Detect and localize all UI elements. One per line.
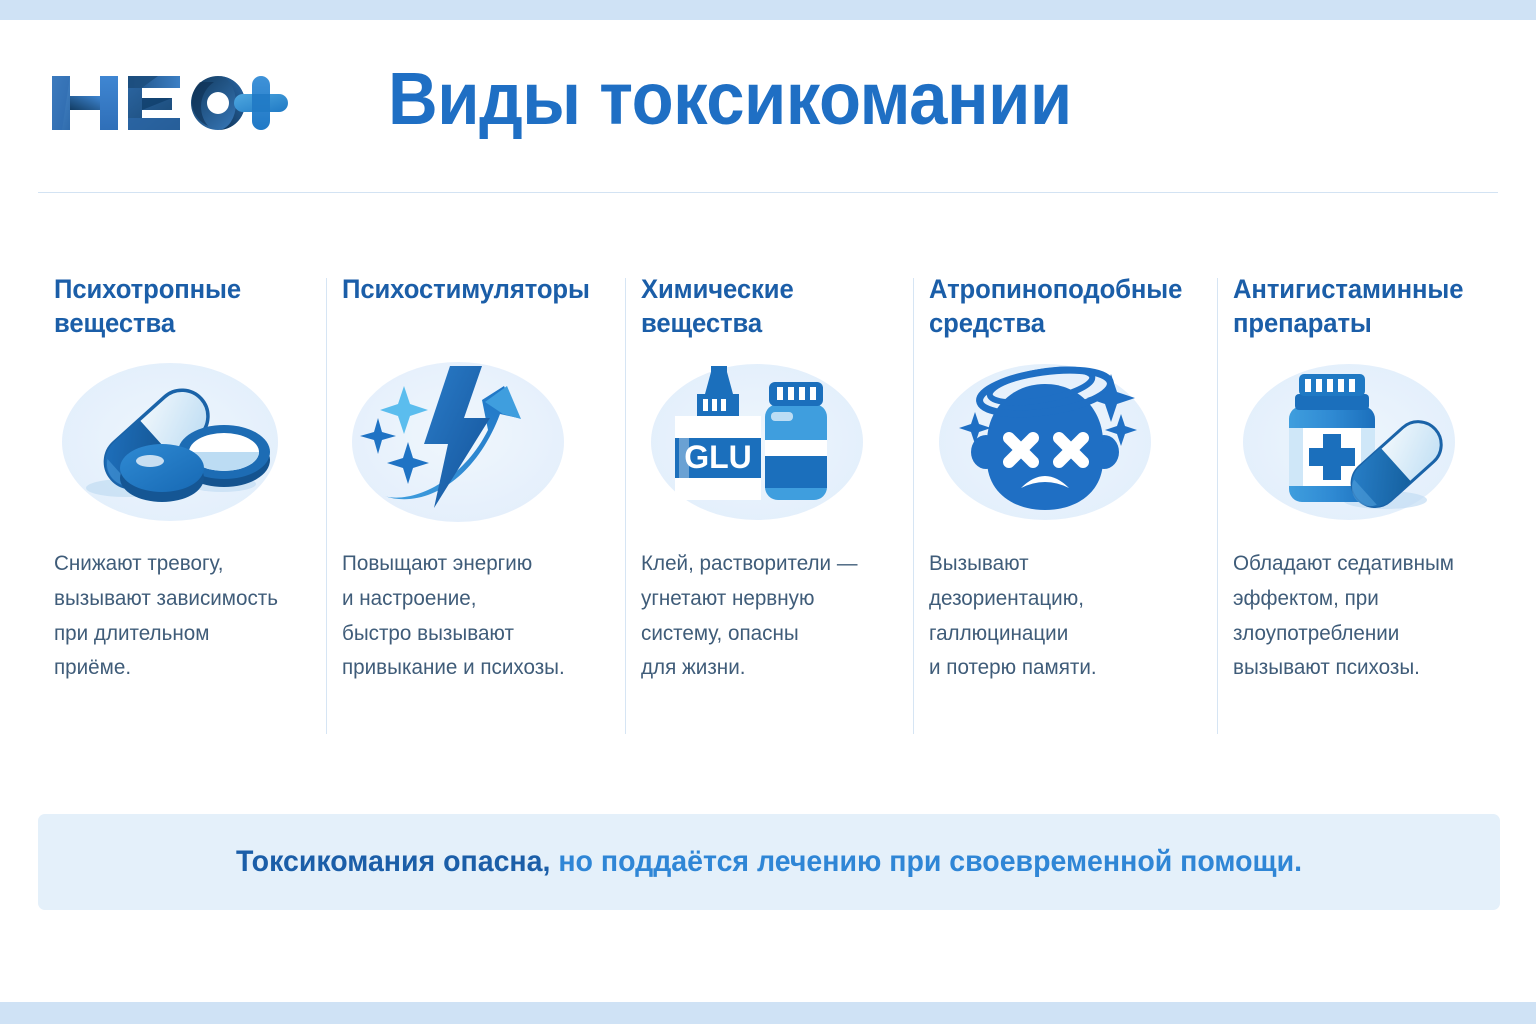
header-divider (38, 192, 1498, 193)
category-columns: Психотропные вещества (38, 272, 1500, 742)
bottom-accent-band (0, 1002, 1536, 1024)
category-column-stimulants: Психостимуляторы (326, 272, 625, 742)
footer-banner: Токсикомания опасна, но поддаётся лечени… (38, 814, 1500, 910)
category-column-atropine: Атропиноподобные средства (913, 272, 1218, 742)
dizzy-face-icon (929, 356, 1196, 528)
lightning-arrow-sparkle-icon (342, 356, 603, 528)
infographic-poster: Виды токсикомании Психотропные вещества (0, 0, 1536, 1024)
glue-label: GLU (684, 439, 752, 475)
neo-plus-logo (48, 68, 288, 138)
footer-message-strong: Токсикомания опасна, (236, 845, 550, 878)
header: Виды токсикомании (0, 20, 1536, 190)
category-column-psychotropic: Психотропные вещества (38, 272, 326, 742)
category-title: Психостимуляторы (342, 272, 590, 342)
footer-message-rest: но поддаётся лечению при своевременной п… (550, 845, 1302, 878)
category-description: Снижают тревогу, вызывают зависимость пр… (54, 546, 294, 685)
category-title: Химические вещества (641, 272, 879, 342)
page-title: Виды токсикомании (388, 60, 1072, 138)
category-column-chemicals: Химические вещества (625, 272, 913, 742)
category-title: Атропиноподобные средства (929, 272, 1182, 342)
footer-message: Токсикомания опасна, но поддаётся лечени… (236, 845, 1302, 879)
pill-bottle-capsule-icon (1233, 356, 1483, 528)
category-title: Антигистаминные препараты (1233, 272, 1471, 342)
category-description: Вызывают дезориентацию, галлюцинации и п… (929, 546, 1185, 685)
category-description: Повыщают энергию и настроение, быстро вы… (342, 546, 592, 685)
top-accent-band (0, 0, 1536, 20)
category-description: Клей, растворители — угнетают нервную си… (641, 546, 881, 685)
pills-capsule-icon (54, 356, 304, 528)
category-title: Психотропные вещества (54, 272, 292, 342)
category-description: Обладают седативным эффектом, при злоупо… (1233, 546, 1473, 685)
category-column-antihistamine: Антигистаминные препараты (1217, 272, 1505, 742)
glue-solvent-bottles-icon: GLU (641, 356, 891, 528)
